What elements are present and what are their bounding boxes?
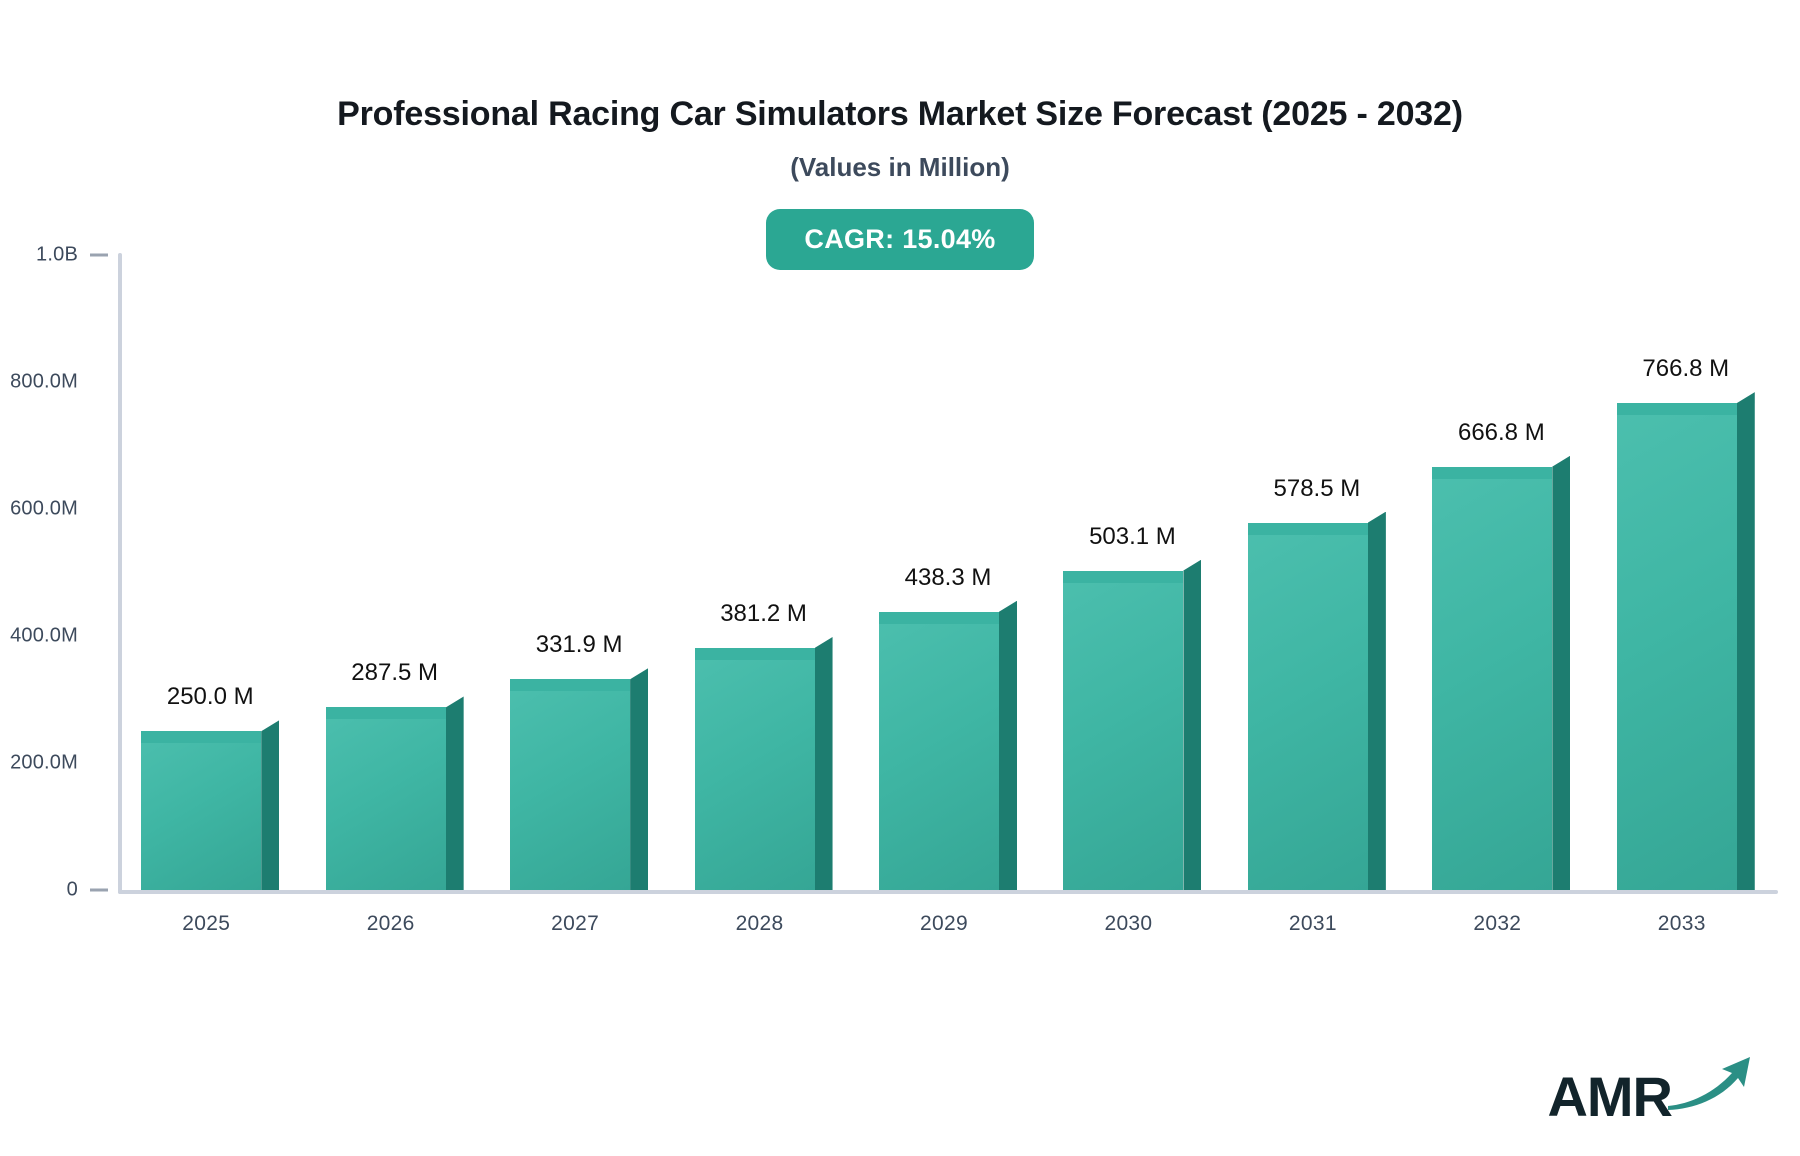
y-axis-line bbox=[118, 253, 122, 894]
y-axis-tick-label: 1.0B bbox=[0, 244, 78, 267]
bar-value-label: 250.0 M bbox=[80, 683, 340, 711]
growth-arrow-icon bbox=[1666, 1055, 1752, 1118]
bar-side-face bbox=[1368, 512, 1386, 890]
bar[interactable] bbox=[695, 648, 833, 890]
bar-value-label: 578.5 M bbox=[1187, 475, 1447, 503]
bar-top-face bbox=[1248, 523, 1368, 535]
bar-side-face bbox=[815, 637, 833, 890]
bar[interactable] bbox=[1432, 467, 1570, 890]
bar[interactable] bbox=[1063, 571, 1201, 890]
y-axis-tick-mark bbox=[90, 889, 108, 892]
bar-front-face bbox=[326, 707, 446, 890]
page-title: Professional Racing Car Simulators Marke… bbox=[0, 96, 1800, 133]
y-axis-tick-label: 600.0M bbox=[0, 498, 78, 521]
bar-value-label: 503.1 M bbox=[1002, 523, 1262, 551]
bar-front-face bbox=[141, 731, 261, 890]
amr-logo-text: AMR bbox=[1547, 1072, 1672, 1122]
bar-side-face bbox=[630, 668, 648, 890]
bar-value-label: 287.5 M bbox=[265, 659, 525, 687]
chart-header: Professional Racing Car Simulators Marke… bbox=[0, 0, 1800, 270]
bar-top-face bbox=[1617, 403, 1737, 415]
bar[interactable] bbox=[1617, 403, 1755, 890]
bar-top-face bbox=[510, 679, 630, 691]
bar-top-face bbox=[326, 707, 446, 719]
bar-top-face bbox=[141, 731, 261, 743]
bar-value-label: 766.8 M bbox=[1556, 355, 1800, 383]
y-axis-tick-label: 0 bbox=[0, 879, 78, 902]
bar-front-face bbox=[879, 612, 999, 890]
chart-subtitle: (Values in Million) bbox=[0, 152, 1800, 183]
y-axis-tick-label: 800.0M bbox=[0, 371, 78, 394]
bar-front-face bbox=[510, 679, 630, 890]
bar-value-label: 381.2 M bbox=[634, 600, 894, 628]
bar-side-face bbox=[261, 720, 279, 890]
bar-value-label: 331.9 M bbox=[449, 631, 709, 659]
bar-value-label: 666.8 M bbox=[1371, 419, 1631, 447]
x-axis-tick-label: 2033 bbox=[1572, 912, 1792, 936]
x-axis-line bbox=[118, 890, 1778, 894]
bar[interactable] bbox=[879, 612, 1017, 890]
amr-logo: AMR bbox=[1547, 1055, 1752, 1122]
bar-side-face bbox=[1737, 392, 1755, 890]
bar-side-face bbox=[1552, 456, 1570, 890]
bar[interactable] bbox=[1248, 523, 1386, 890]
bar-side-face bbox=[999, 601, 1017, 890]
bar-top-face bbox=[1432, 467, 1552, 479]
bar-side-face bbox=[446, 696, 464, 890]
bar[interactable] bbox=[141, 731, 279, 890]
bar-top-face bbox=[695, 648, 815, 660]
bar-front-face bbox=[1248, 523, 1368, 890]
bar[interactable] bbox=[326, 707, 464, 890]
bar-front-face bbox=[695, 648, 815, 890]
bar-top-face bbox=[1063, 571, 1183, 583]
bar-top-face bbox=[879, 612, 999, 624]
y-axis-tick-label: 200.0M bbox=[0, 752, 78, 775]
bar-front-face bbox=[1063, 571, 1183, 890]
bar-chart-plot-area: 0200.0M400.0M600.0M800.0M1.0B 250.0 M287… bbox=[0, 240, 1800, 900]
bar-front-face bbox=[1432, 467, 1552, 890]
bar-side-face bbox=[1183, 560, 1201, 890]
y-axis-tick-label: 400.0M bbox=[0, 625, 78, 648]
bar-value-label: 438.3 M bbox=[818, 564, 1078, 592]
bar[interactable] bbox=[510, 679, 648, 890]
y-axis-tick-mark bbox=[90, 254, 108, 257]
bar-front-face bbox=[1617, 403, 1737, 890]
